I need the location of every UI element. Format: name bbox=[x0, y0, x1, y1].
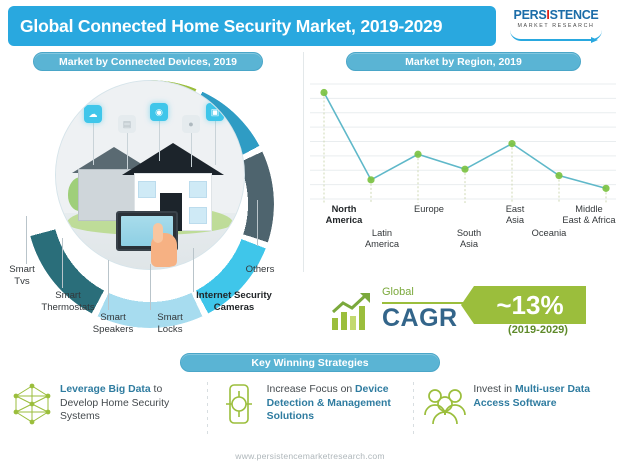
logo-wordmark: PERSISTENCE bbox=[502, 8, 610, 22]
strategy-2-lead: Increase Focus on bbox=[267, 384, 355, 395]
icon-stem bbox=[191, 133, 192, 167]
donut-label-smart-tvs: SmartTvs bbox=[0, 264, 44, 287]
donut-label-smart-locks: SmartLocks bbox=[144, 312, 196, 335]
cagr-global-label: Global bbox=[382, 286, 414, 298]
house-front-roof bbox=[122, 143, 224, 175]
donut-label-smart-thermostats: SmartThermostats bbox=[26, 290, 110, 313]
strategy-item-1: Leverage Big Data to Develop Home Securi… bbox=[0, 378, 207, 440]
leader-line bbox=[257, 200, 258, 246]
page-title: Global Connected Home Security Market, 2… bbox=[8, 16, 442, 37]
logo-swoosh-icon bbox=[510, 30, 602, 41]
cagr-value: ~13% bbox=[496, 290, 563, 321]
cagr-years: (2019-2029) bbox=[490, 324, 586, 336]
window-icon bbox=[189, 207, 207, 224]
x-label-latin-america: LatinAmerica bbox=[346, 228, 418, 250]
strategies-row: Leverage Big Data to Develop Home Securi… bbox=[0, 378, 620, 440]
leader-line bbox=[193, 248, 194, 292]
leader-line bbox=[150, 264, 151, 310]
hand-icon bbox=[151, 233, 177, 267]
leader-line bbox=[26, 216, 27, 264]
chart-x-axis-labels: NorthAmerica LatinAmerica Europe SouthAs… bbox=[306, 204, 620, 250]
network-nodes-icon bbox=[10, 382, 54, 426]
icon-stem bbox=[215, 121, 216, 165]
x-label-north-america: NorthAmerica bbox=[308, 204, 380, 226]
strategy-item-3: Invest in Multi-user Data Access Softwar… bbox=[413, 378, 620, 440]
x-label-south-asia: SouthAsia bbox=[438, 228, 500, 250]
brand-logo: PERSISTENCE MARKET RESEARCH bbox=[502, 8, 610, 48]
region-panel: Market by Region, 2019 NorthAmerica Lati… bbox=[306, 52, 620, 282]
strategy-3-lead: Invest in bbox=[473, 384, 515, 395]
x-label-oceania: Oceania bbox=[518, 228, 580, 239]
growth-chart-icon bbox=[330, 292, 374, 332]
donut-chart: ☁ ▤ ◉ ● ▣ bbox=[8, 78, 292, 288]
devices-heading: Market by Connected Devices, 2019 bbox=[33, 52, 263, 71]
logo-subtitle: MARKET RESEARCH bbox=[502, 22, 610, 30]
security-camera-icon: ◉ bbox=[150, 103, 168, 121]
window-icon bbox=[138, 181, 156, 198]
leader-line bbox=[62, 238, 63, 288]
strategies-heading: Key Winning Strategies bbox=[180, 353, 440, 372]
connected-devices-panel: Market by Connected Devices, 2019 bbox=[0, 52, 300, 347]
device-target-icon bbox=[217, 382, 261, 426]
donut-label-smart-speakers: SmartSpeakers bbox=[82, 312, 144, 335]
smart-tv-icon: ▣ bbox=[206, 103, 224, 121]
smart-home-illustration: ☁ ▤ ◉ ● ▣ bbox=[55, 80, 245, 270]
panel-divider bbox=[303, 52, 304, 272]
header: Global Connected Home Security Market, 2… bbox=[8, 6, 612, 48]
x-label-east-asia: EastAsia bbox=[488, 204, 542, 226]
chart-markers bbox=[320, 89, 609, 192]
strategy-text-2: Increase Focus on Device Detection & Man… bbox=[261, 380, 408, 424]
strategy-item-2: Increase Focus on Device Detection & Man… bbox=[207, 378, 414, 440]
cagr-value-chip: ~13% bbox=[474, 286, 586, 324]
strategy-text-1: Leverage Big Data to Develop Home Securi… bbox=[54, 380, 201, 424]
users-group-icon bbox=[423, 382, 467, 426]
window-icon bbox=[189, 181, 207, 198]
cagr-word: CAGR bbox=[382, 304, 458, 333]
strategy-text-3: Invest in Multi-user Data Access Softwar… bbox=[467, 380, 614, 410]
logo-text-part1: PERS bbox=[514, 8, 547, 22]
x-label-europe: Europe bbox=[398, 204, 460, 215]
smart-lock-icon: ● bbox=[182, 115, 200, 133]
region-heading: Market by Region, 2019 bbox=[346, 52, 581, 71]
strategy-1-bold: Leverage Big Data bbox=[60, 384, 151, 395]
x-label-middle-east-africa: MiddleEast & Africa bbox=[556, 204, 620, 226]
footer-url: www.persistencemarketresearch.com bbox=[0, 451, 620, 461]
thermostat-icon: ☁ bbox=[84, 105, 102, 123]
region-line-chart bbox=[310, 78, 616, 203]
icon-stem bbox=[159, 121, 160, 161]
cagr-block: Global CAGR ~13% (2019-2029) bbox=[330, 284, 612, 340]
icon-stem bbox=[93, 123, 94, 165]
title-bar: Global Connected Home Security Market, 2… bbox=[8, 6, 496, 46]
speaker-icon: ▤ bbox=[118, 115, 136, 133]
chart-droplines bbox=[324, 93, 606, 203]
icon-stem bbox=[127, 133, 128, 169]
donut-label-others: Others bbox=[230, 264, 290, 276]
chart-gridlines bbox=[310, 84, 616, 199]
donut-label-internet-security-cameras: Internet SecurityCameras bbox=[174, 290, 294, 313]
logo-text-part2: STENCE bbox=[550, 8, 599, 22]
